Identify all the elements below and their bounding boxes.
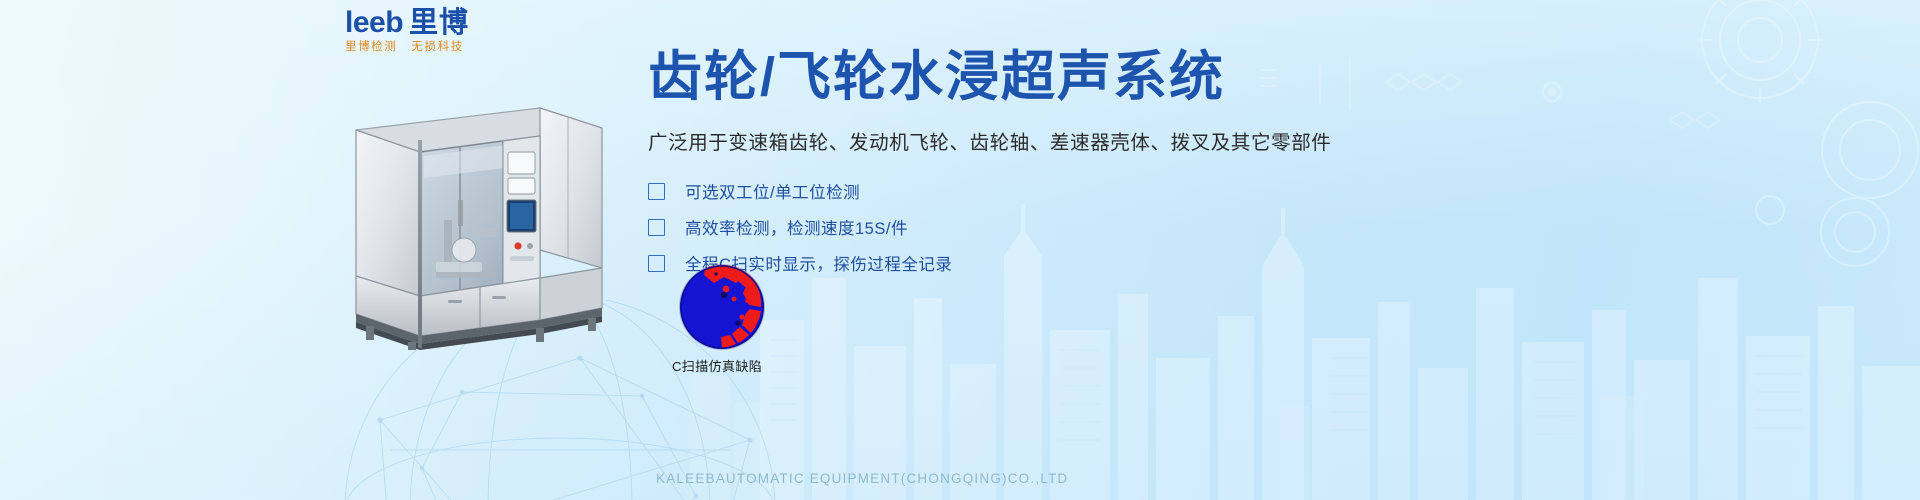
- hero-subtitle: 广泛用于变速箱齿轮、发动机飞轮、齿轮轴、差速器壳体、拨叉及其它零部件: [648, 126, 1768, 155]
- checkbox-outline-icon: [648, 183, 665, 200]
- checkbox-outline-icon: [648, 219, 665, 236]
- feature-label: 可选双工位/单工位检测: [685, 179, 860, 203]
- logo-latin: leeb: [345, 6, 403, 39]
- list-item: 高效率检测，检测速度15S/件: [648, 210, 1768, 244]
- list-item: 可选双工位/单工位检测: [648, 174, 1768, 208]
- checkbox-outline-icon: [648, 255, 665, 272]
- cscan-image: [680, 265, 764, 349]
- logo-chinese: 里博: [409, 7, 469, 39]
- page-title: 齿轮/飞轮水浸超声系统: [648, 46, 1768, 108]
- cscan-caption: C扫描仿真缺陷: [672, 356, 842, 375]
- logo-tagline-left: 里博检测: [345, 41, 397, 53]
- logo-tagline: 里博检测无损科技: [345, 42, 575, 54]
- logo-tagline-right: 无损科技: [411, 41, 463, 53]
- brand-logo[interactable]: leeb里博 里博检测无损科技: [345, 8, 575, 54]
- hero-content: 齿轮/飞轮水浸超声系统 广泛用于变速箱齿轮、发动机飞轮、齿轮轴、差速器壳体、拨叉…: [648, 46, 1768, 282]
- company-footer-text: KALEEBAUTOMATIC EQUIPMENT(CHONGQING)CO.,…: [656, 471, 1068, 486]
- hero-banner: leeb里博 里博检测无损科技: [0, 0, 1920, 500]
- ultrasonic-machine-icon: [340, 100, 610, 350]
- feature-label: 高效率检测，检测速度15S/件: [685, 215, 908, 239]
- logo-wordmark: leeb里博: [345, 8, 575, 38]
- cscan-sample: C扫描仿真缺陷: [672, 265, 842, 375]
